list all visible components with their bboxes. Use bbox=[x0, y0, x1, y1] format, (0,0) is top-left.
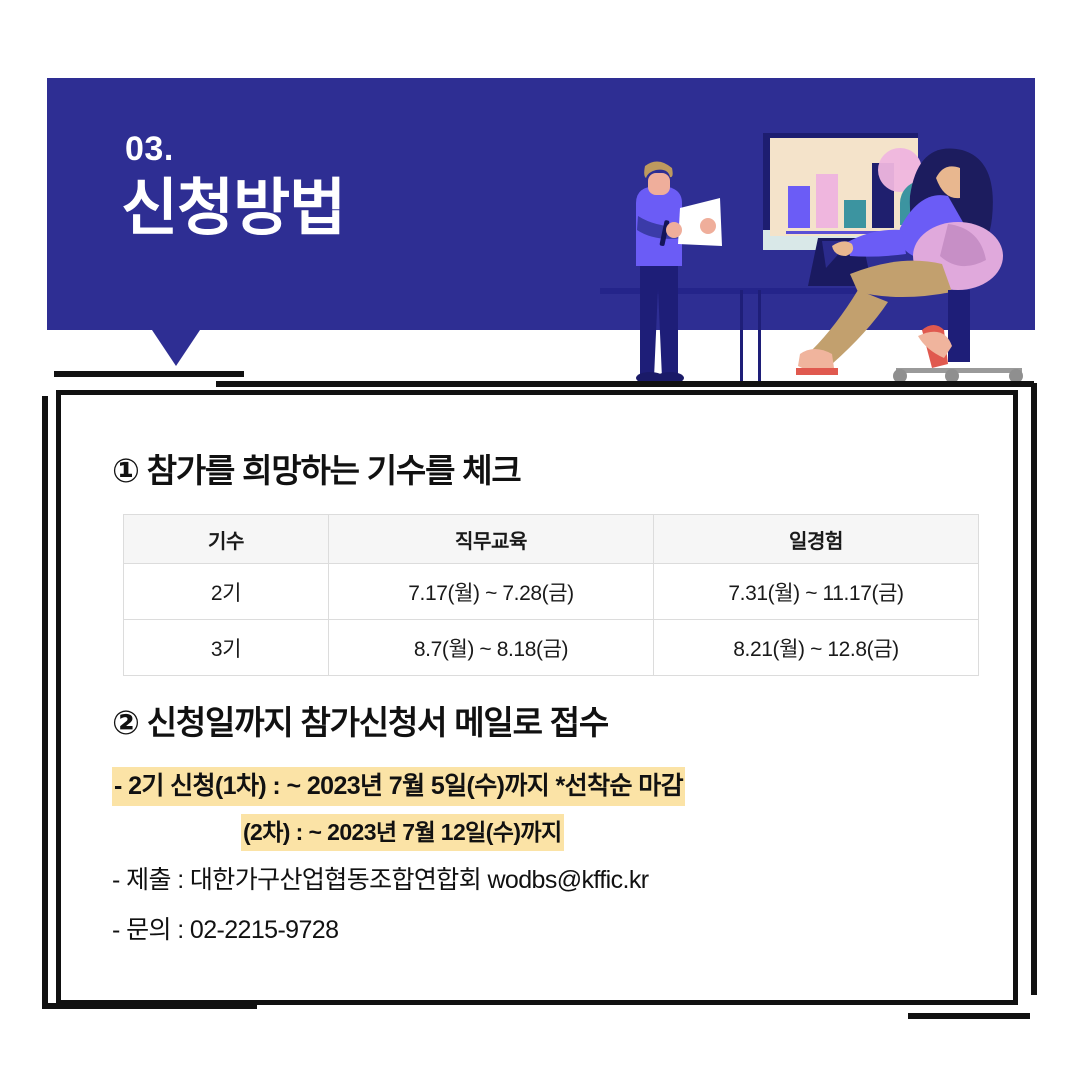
frame-accent-bottom-right bbox=[908, 1013, 1030, 1019]
header-pointer-triangle bbox=[152, 330, 200, 366]
section-heading-two: ② 신청일까지 참가신청서 메일로 접수 bbox=[112, 706, 608, 739]
frame-accent-left bbox=[42, 396, 48, 1009]
table-cell-batch: 2기 bbox=[124, 564, 329, 620]
frame-accent-top-left bbox=[54, 371, 244, 377]
table-cell-training: 7.17(월) ~ 7.28(금) bbox=[329, 564, 654, 620]
detail-line-application-first: - 2기 신청(1차) : ~ 2023년 7월 5일(수)까지 *선착순 마감 bbox=[112, 774, 685, 799]
table-cell-training: 8.7(월) ~ 8.18(금) bbox=[329, 620, 654, 676]
sandal-icon bbox=[796, 368, 838, 375]
table-header-cell: 직무교육 bbox=[329, 515, 654, 564]
chair-base-icon bbox=[896, 368, 1022, 373]
detail-line-contact: - 문의 : 02-2215-9728 bbox=[112, 918, 338, 943]
table-cell-work: 8.21(월) ~ 12.8(금) bbox=[654, 620, 979, 676]
section-heading-one: ① 참가를 희망하는 기수를 체크 bbox=[112, 454, 521, 487]
table-cell-batch: 3기 bbox=[124, 620, 329, 676]
schedule-table: 기수 직무교육 일경험 2기 7.17(월) ~ 7.28(금) 7.31(월)… bbox=[123, 514, 979, 676]
table-header-row: 기수 직무교육 일경험 bbox=[124, 515, 979, 564]
detail-text: - 문의 : 02-2215-9728 bbox=[112, 916, 338, 944]
content-area: ① 참가를 희망하는 기수를 체크 기수 직무교육 일경험 2기 7.17(월)… bbox=[56, 390, 1018, 1005]
sandal-2-icon bbox=[922, 325, 948, 368]
detail-text: (2차) : ~ 2023년 7월 12일(수)까지 bbox=[241, 814, 564, 851]
detail-line-submission: - 제출 : 대한가구산업협동조합연합회 wodbs@kffic.kr bbox=[112, 868, 648, 893]
frame-accent-top-right bbox=[216, 381, 1034, 387]
detail-line-application-second: (2차) : ~ 2023년 7월 12일(수)까지 bbox=[241, 821, 564, 844]
detail-text: - 2기 신청(1차) : ~ 2023년 7월 5일(수)까지 *선착순 마감 bbox=[112, 767, 685, 806]
page-title: 신청방법 bbox=[121, 178, 345, 240]
frame-accent-right bbox=[1031, 383, 1037, 995]
table-header-cell: 기수 bbox=[124, 515, 329, 564]
detail-text: - 제출 : 대한가구산업협동조합연합회 wodbs@kffic.kr bbox=[112, 866, 648, 894]
table-row: 3기 8.7(월) ~ 8.18(금) 8.21(월) ~ 12.8(금) bbox=[124, 620, 979, 676]
table-header-cell: 일경험 bbox=[654, 515, 979, 564]
header-step-number: 03. bbox=[125, 132, 174, 166]
table-row: 2기 7.17(월) ~ 7.28(금) 7.31(월) ~ 11.17(금) bbox=[124, 564, 979, 620]
foot-icon bbox=[798, 349, 834, 371]
table-cell-work: 7.31(월) ~ 11.17(금) bbox=[654, 564, 979, 620]
